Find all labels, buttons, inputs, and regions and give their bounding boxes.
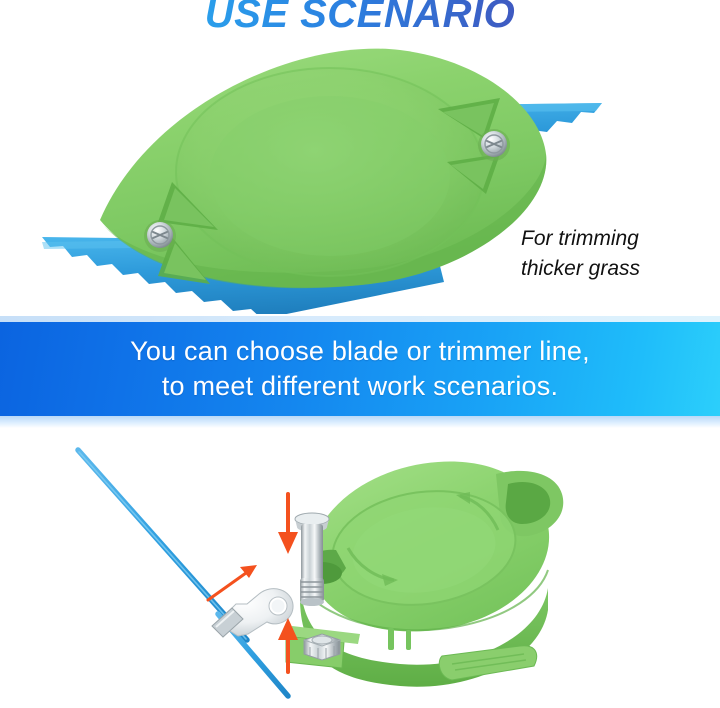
screw-right (478, 129, 510, 161)
top-caption: For trimming thicker grass (521, 224, 640, 285)
banner-section: You can choose blade or trimmer line, to… (0, 316, 720, 428)
green-trimmer-head-body (100, 49, 546, 289)
arrow-up-line (208, 565, 257, 600)
caption-line-1: For trimming (521, 224, 640, 254)
arrow-down-bolt (278, 494, 298, 554)
banner-bottom-glow (0, 416, 720, 428)
screw-left (144, 220, 176, 252)
caption-line-2: thicker grass (521, 254, 640, 284)
bottom-product-illustration (0, 428, 720, 708)
blue-trimmer-line (78, 450, 288, 696)
banner-line-2: to meet different work scenarios. (162, 369, 558, 404)
bottom-scene-svg (0, 428, 720, 708)
hex-nut (304, 634, 340, 660)
banner: You can choose blade or trimmer line, to… (0, 322, 720, 416)
banner-line-1: You can choose blade or trimmer line, (130, 334, 590, 369)
page-title: USE SCENARIO (0, 0, 720, 37)
product-infographic-page: USE SCENARIO (0, 0, 720, 708)
